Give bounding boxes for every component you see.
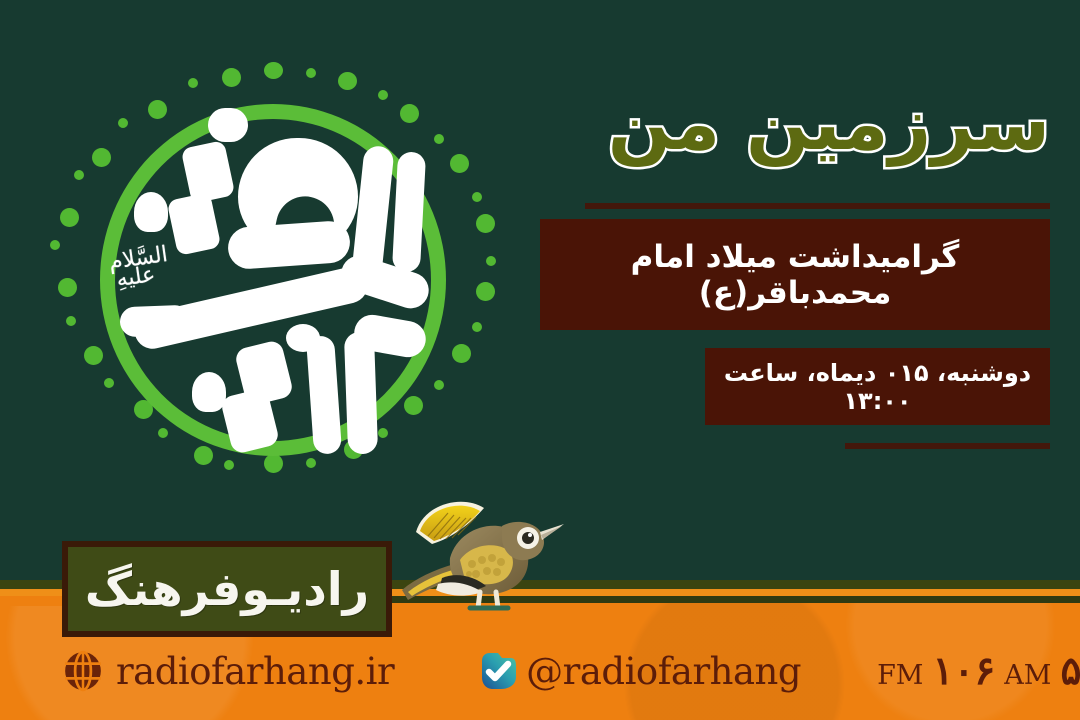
station-emblem: السَّلام علیهِ	[48, 56, 498, 506]
fm-value: ۱۰۶	[932, 648, 995, 694]
station-name-box: رادیـوفرهنگ	[62, 541, 392, 637]
frequency-info: FM ۱۰۶ AM ۵۸۵	[877, 648, 1080, 694]
verified-check-icon	[476, 649, 520, 693]
globe-icon	[62, 650, 104, 692]
event-subtitle-text: گرامیداشت میلاد امام محمدباقر(ع)	[540, 239, 1050, 311]
website-link[interactable]: radiofarhang.ir	[62, 650, 394, 693]
am-label: AM	[1004, 660, 1051, 691]
website-text: radiofarhang.ir	[116, 650, 394, 693]
program-title: سرزمین من	[510, 86, 1050, 164]
messenger-handle-text: @radiofarhang	[526, 650, 801, 693]
messenger-link[interactable]: @radiofarhang	[476, 649, 801, 693]
emblem-honorific: السَّلام علیهِ	[108, 244, 172, 292]
event-datetime-text: دوشنبه، ۰۱۵ دیماه، ساعت ۱۳:۰۰	[705, 359, 1050, 415]
divider-rule-bottom	[845, 443, 1050, 449]
fm-label: FM	[877, 660, 923, 691]
bird-illustration	[398, 486, 578, 611]
am-value: ۵۸۵	[1060, 648, 1080, 694]
event-datetime-band: دوشنبه، ۰۱۵ دیماه، ساعت ۱۳:۰۰	[705, 348, 1050, 425]
poster-canvas: السَّلام علیهِ سرزمین من گرامیداشت میلاد…	[0, 0, 1080, 720]
event-subtitle-band: گرامیداشت میلاد امام محمدباقر(ع)	[540, 219, 1050, 330]
footer-row: radiofarhang.ir @radiofarhang FM ۱۰۶	[0, 640, 1080, 702]
divider-rule-top	[585, 203, 1050, 209]
station-name-label: رادیـوفرهنگ	[85, 566, 369, 612]
